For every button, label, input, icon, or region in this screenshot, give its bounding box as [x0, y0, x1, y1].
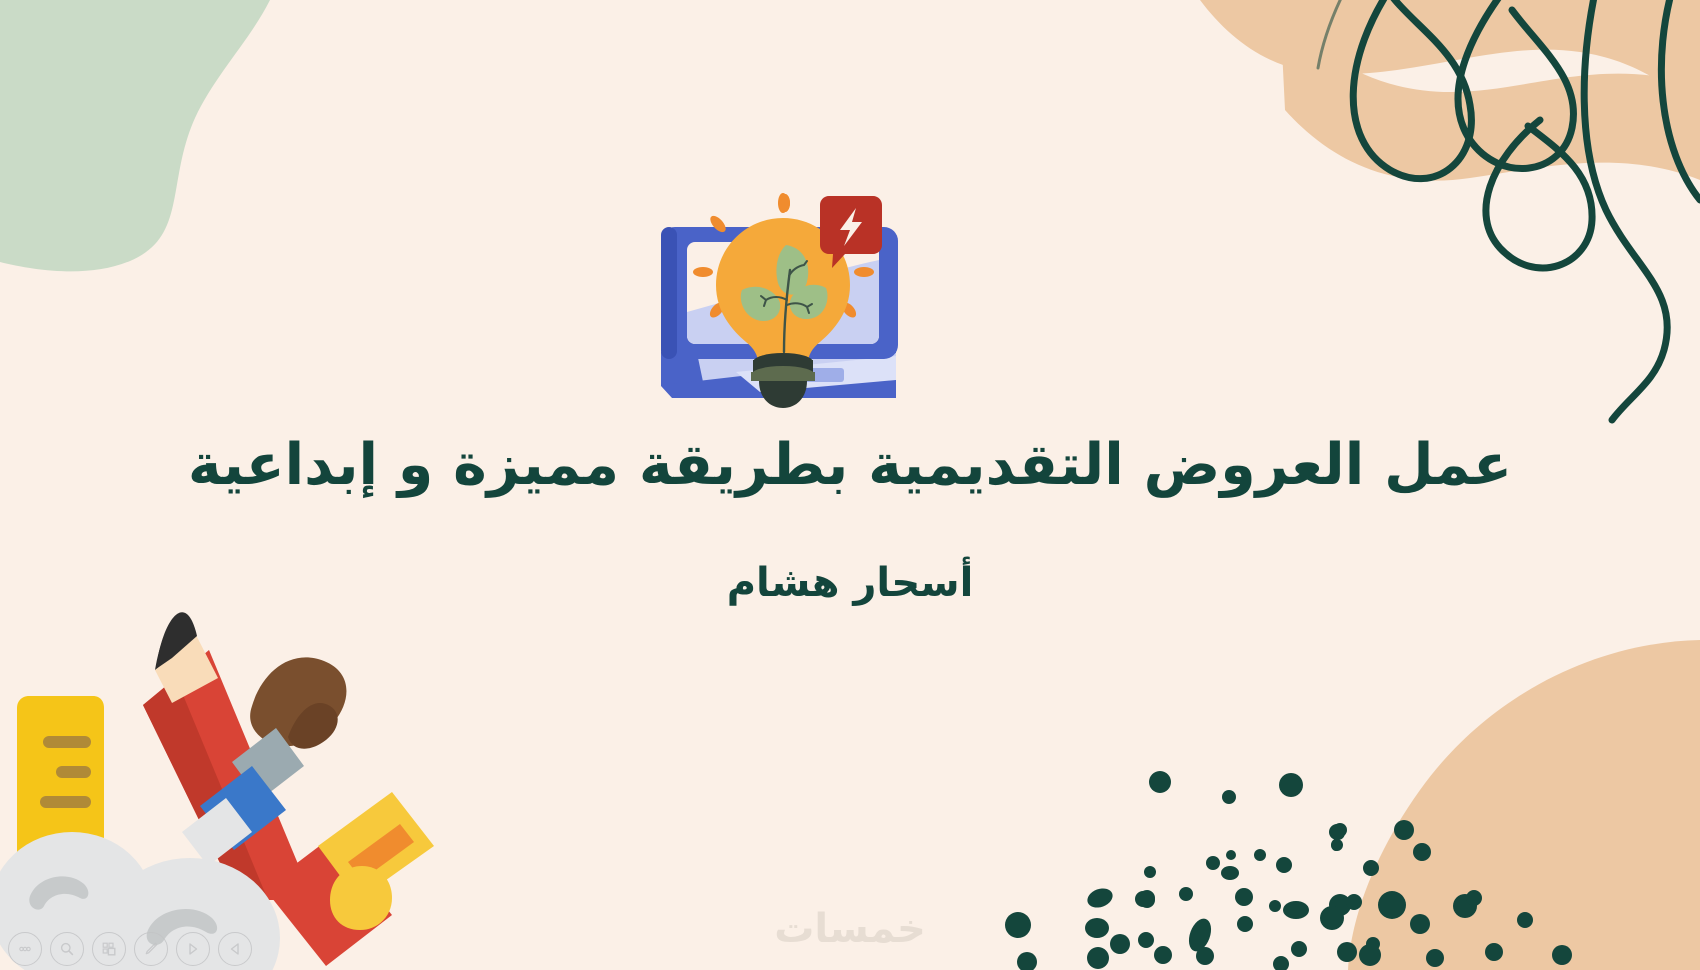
- more-options-button[interactable]: [8, 932, 42, 966]
- triangle-left-icon: [228, 942, 242, 956]
- zoom-button[interactable]: [50, 932, 84, 966]
- pen-annotate-button[interactable]: [134, 932, 168, 966]
- stationery-illustration: [0, 0, 1700, 970]
- magnifier-icon: [59, 941, 75, 957]
- triangle-right-icon: [186, 942, 200, 956]
- slide-overview-button[interactable]: [92, 932, 126, 966]
- grid-windows-icon: [101, 941, 117, 957]
- previous-slide-button[interactable]: [218, 932, 252, 966]
- pencil-icon: [143, 941, 159, 957]
- fountain-pen: [264, 792, 434, 966]
- presentation-slide: عمل العروض التقديمية بطريقة مميزة و إبدا…: [0, 0, 1700, 970]
- ellipsis-icon: [16, 940, 34, 958]
- presentation-toolbar: [8, 932, 252, 966]
- play-slideshow-button[interactable]: [176, 932, 210, 966]
